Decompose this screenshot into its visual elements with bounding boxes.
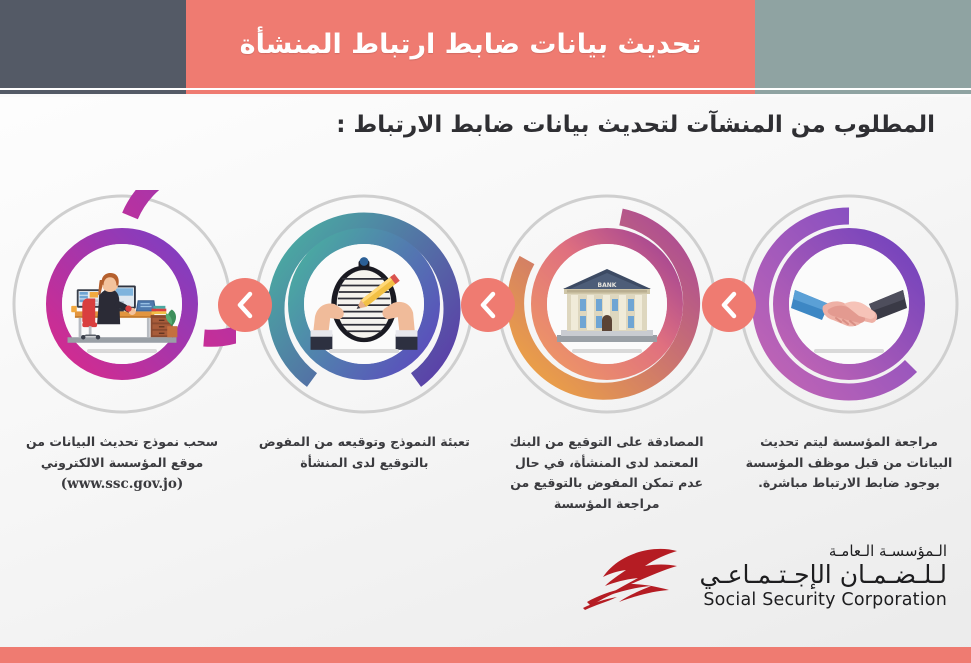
header-accent-stripe — [0, 88, 971, 97]
ssc-bird-mark-icon — [581, 544, 685, 610]
caption-review-institution: مراجعة المؤسسة ليتم تحديث البيانات من قب… — [735, 432, 963, 515]
logo-english-name: Social Security Corporation — [699, 591, 947, 611]
logo-text-group: الـمؤسسـة الـعامـة لـلـضـمـان الإجـتـمـا… — [699, 543, 947, 610]
chevron-left-icon-2[interactable] — [461, 278, 515, 332]
stripe-segment-left — [755, 88, 971, 97]
step-download-form[interactable] — [8, 190, 236, 430]
page-header: تحديث بيانات ضابط ارتباط المنشأة — [0, 0, 971, 88]
page-title: تحديث بيانات ضابط ارتباط المنشأة — [240, 29, 702, 60]
footer-accent-bar — [0, 647, 971, 663]
header-band-center: تحديث بيانات ضابط ارتباط المنشأة — [186, 0, 755, 88]
ring-graphic-4 — [8, 190, 236, 418]
stripe-segment-right — [0, 88, 186, 97]
inner-divider-4 — [87, 349, 157, 353]
inner-divider-1 — [814, 349, 884, 353]
chevron-left-icon-3[interactable] — [702, 278, 756, 332]
logo-arabic-line-2: لـلـضـمـان الإجـتـمـاعـي — [699, 561, 947, 589]
clipboard-signing-icon — [304, 249, 424, 359]
caption-line-2: موقع المؤسسة الالكتروني — [16, 453, 228, 474]
handshake-icon — [789, 249, 909, 359]
ssc-website-url[interactable]: (www.ssc.gov.jo) — [16, 473, 228, 495]
logo-arabic-line-1: الـمؤسسـة الـعامـة — [699, 543, 947, 560]
step-review-institution[interactable] — [735, 190, 963, 430]
header-band-right — [0, 0, 186, 88]
section-subtitle: المطلوب من المنشآت لتحديث بيانات ضابط ال… — [35, 112, 935, 138]
organization-logo: الـمؤسسـة الـعامـة لـلـضـمـان الإجـتـمـا… — [581, 543, 947, 610]
step-fill-and-sign[interactable] — [250, 190, 478, 430]
bank-building-icon: BANK — [547, 249, 667, 359]
caption-line-1: سحب نموذج تحديث البيانات من — [16, 432, 228, 453]
ring-graphic-2: BANK — [493, 190, 721, 418]
step-bank-certification[interactable]: BANK — [493, 190, 721, 430]
ring-graphic-1 — [735, 190, 963, 418]
person-at-desk-icon — [62, 249, 182, 359]
caption-bank-certification: المصادقة على التوقيع من البنك المعتمد لد… — [493, 432, 721, 515]
caption-fill-and-sign: تعبئة النموذج وتوقيعه من المفوض بالتوقيع… — [250, 432, 478, 515]
svg-text:BANK: BANK — [597, 282, 616, 289]
header-band-left — [755, 0, 971, 88]
inner-divider-2 — [572, 349, 642, 353]
stripe-segment-center — [186, 88, 755, 97]
chevron-left-icon-1[interactable] — [218, 278, 272, 332]
caption-download-form: سحب نموذج تحديث البيانات من موقع المؤسسة… — [8, 432, 236, 515]
ring-graphic-3 — [250, 190, 478, 418]
inner-divider-3 — [329, 349, 399, 353]
captions-row: مراجعة المؤسسة ليتم تحديث البيانات من قب… — [0, 432, 971, 515]
